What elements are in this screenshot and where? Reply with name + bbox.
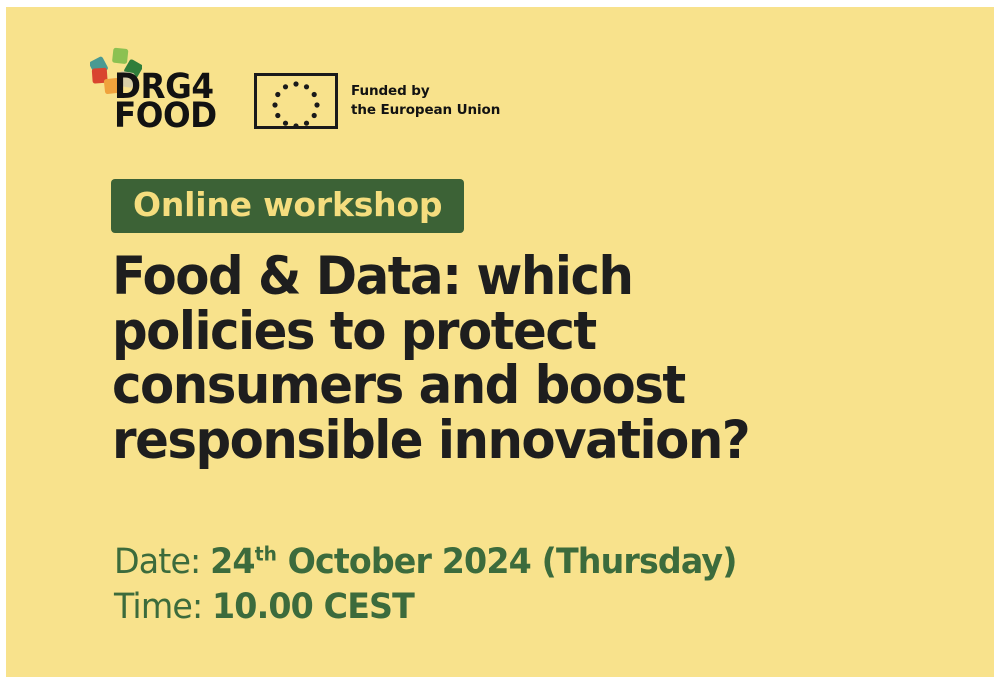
eu-caption-line-2: the European Union <box>351 102 500 118</box>
time-value: 10.00 CEST <box>212 587 414 627</box>
eu-funding-caption: Funded by the European Union <box>351 82 500 119</box>
eu-caption-line-1: Funded by <box>351 83 430 99</box>
poster-headline: Food & Data: which policies to protect c… <box>112 250 972 468</box>
date-day-number: 24 <box>210 542 255 582</box>
date-rest: October 2024 (Thursday) <box>277 542 737 582</box>
drg4food-logo: DRG4 FOOD <box>84 47 234 135</box>
time-label: Time: <box>114 587 202 627</box>
headline-line-1: Food & Data: which <box>112 250 920 305</box>
event-type-badge: Online workshop <box>111 179 464 233</box>
headline-line-2: policies to protect <box>112 305 920 360</box>
eu-flag-icon <box>254 73 338 129</box>
headline-line-3: consumers and boost <box>112 359 920 414</box>
date-day-ordinal: th <box>255 542 277 565</box>
date-label: Date: <box>114 542 200 582</box>
event-time-line: Time: 10.00 CEST <box>114 585 737 630</box>
drg4food-wordmark: DRG4 FOOD <box>114 73 217 132</box>
wordmark-line-2: FOOD <box>114 102 217 131</box>
event-date-line: Date: 24th October 2024 (Thursday) <box>114 540 737 585</box>
poster-canvas: DRG4 FOOD <box>6 7 994 677</box>
headline-line-4: responsible innovation? <box>112 414 920 469</box>
event-details: Date: 24th October 2024 (Thursday) Time:… <box>114 540 769 630</box>
header-logo-row: DRG4 FOOD <box>84 45 500 135</box>
eu-funding-block: Funded by the European Union <box>254 73 500 129</box>
